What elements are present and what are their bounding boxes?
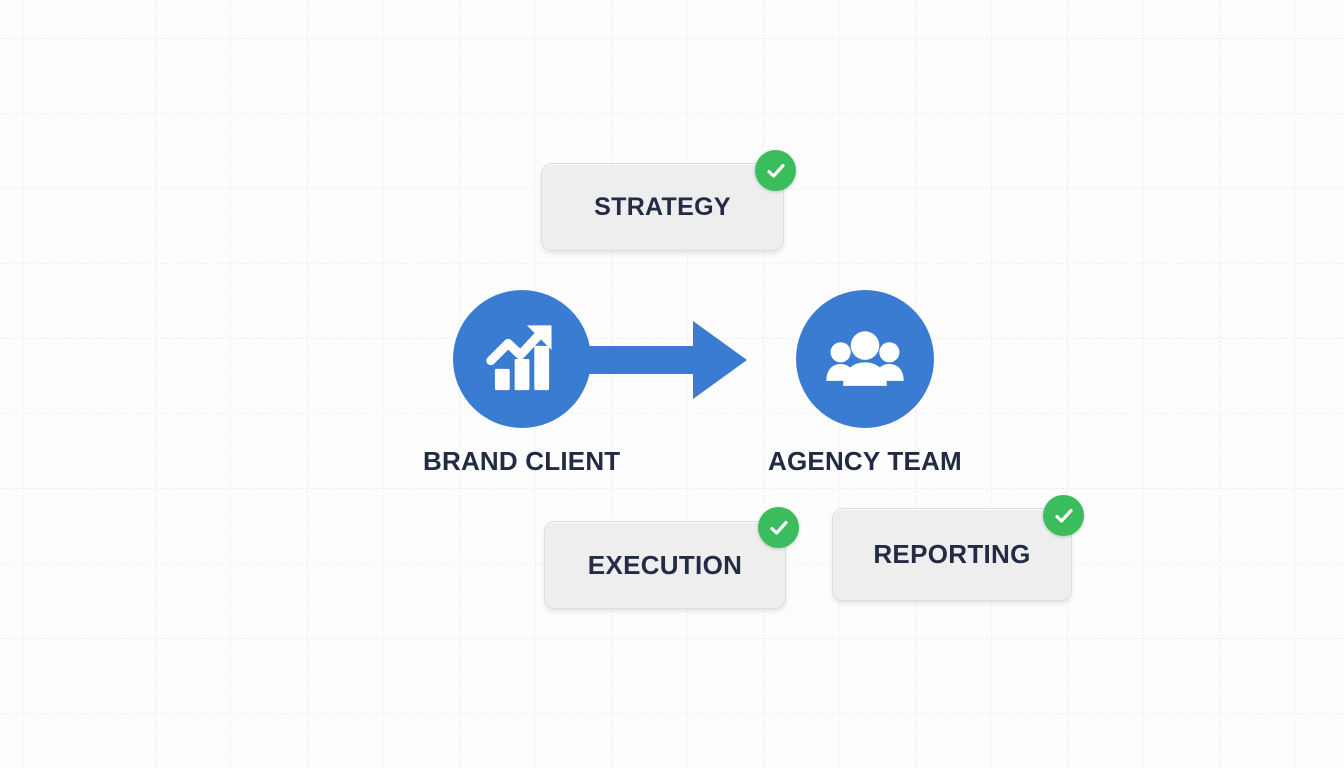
chart-growth-icon [481,318,563,400]
node-agency-team[interactable]: AGENCY TEAM [768,290,962,477]
check-icon [1052,504,1076,528]
people-group-icon [823,317,907,401]
check-icon [767,516,791,540]
card-strategy-label: STRATEGY [594,193,731,222]
card-strategy[interactable]: STRATEGY [541,163,784,251]
diagram-canvas: STRATEGY BRAND CLIENT [0,0,1344,768]
flow-arrow [581,316,749,404]
arrow-right-icon [581,316,749,404]
node-brand-client-label: BRAND CLIENT [423,446,620,477]
node-brand-client-circle [453,290,591,428]
node-agency-team-label: AGENCY TEAM [768,446,962,477]
node-agency-team-circle [796,290,934,428]
card-execution[interactable]: EXECUTION [544,521,786,609]
check-badge-execution[interactable] [758,507,799,548]
check-icon [764,159,788,183]
diagram-stage: STRATEGY BRAND CLIENT [0,0,1344,768]
card-reporting-label: REPORTING [873,539,1030,570]
check-badge-reporting[interactable] [1043,495,1084,536]
card-execution-label: EXECUTION [588,550,742,581]
card-reporting[interactable]: REPORTING [832,508,1072,601]
check-badge-strategy[interactable] [755,150,796,191]
